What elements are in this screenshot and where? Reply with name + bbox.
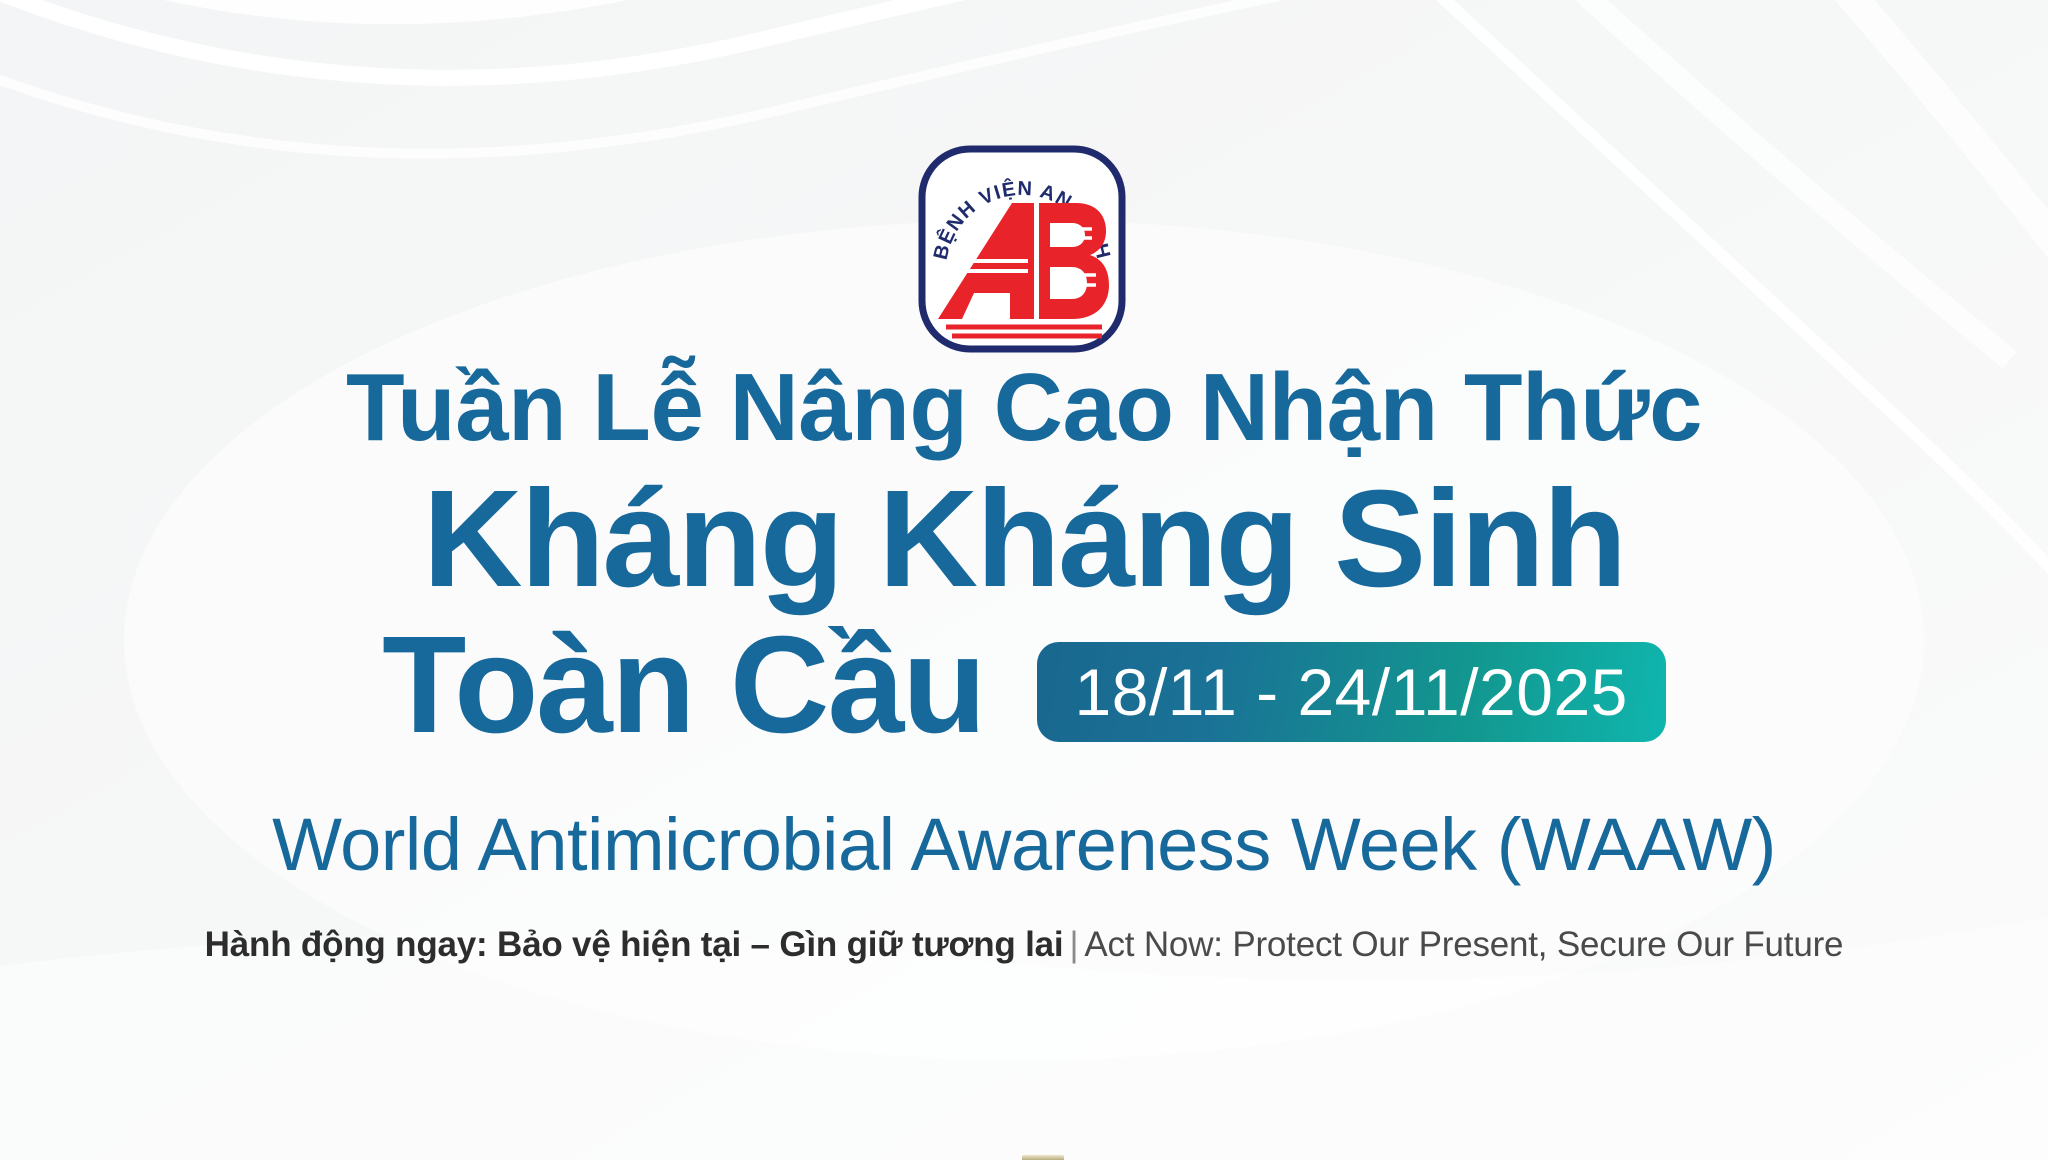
tagline-separator: | (1063, 925, 1084, 964)
heading-line-3-row: Toàn Cầu 18/11 - 24/11/2025 (0, 616, 2048, 754)
date-badge: 18/11 - 24/11/2025 (1037, 642, 1666, 742)
tagline-vietnamese: Hành động ngay: Bảo vệ hiện tại – Gìn gi… (205, 925, 1064, 964)
logo-letter-b (1028, 203, 1109, 319)
heading-line-3: Toàn Cầu (382, 616, 984, 754)
tagline: Hành động ngay: Bảo vệ hiện tại – Gìn gi… (0, 925, 2048, 965)
hospital-logo: BỆNH VIỆN AN BÌNH (916, 143, 1128, 355)
english-subtitle: World Antimicrobial Awareness Week (WAAW… (0, 802, 2048, 887)
heading-line-1: Tuần Lễ Nâng Cao Nhận Thức (0, 360, 2048, 456)
tagline-english: Act Now: Protect Our Present, Secure Our… (1084, 925, 1843, 964)
heading-line-2: Kháng Kháng Sinh (0, 470, 2048, 608)
benh-vien-an-binh-logo-svg: BỆNH VIỆN AN BÌNH (916, 143, 1128, 355)
poster-content: Tuần Lễ Nâng Cao Nhận Thức Kháng Kháng S… (0, 360, 2048, 965)
waaw-poster: BỆNH VIỆN AN BÌNH (0, 0, 2048, 1160)
bottom-edge-sliver (1022, 1155, 1064, 1160)
